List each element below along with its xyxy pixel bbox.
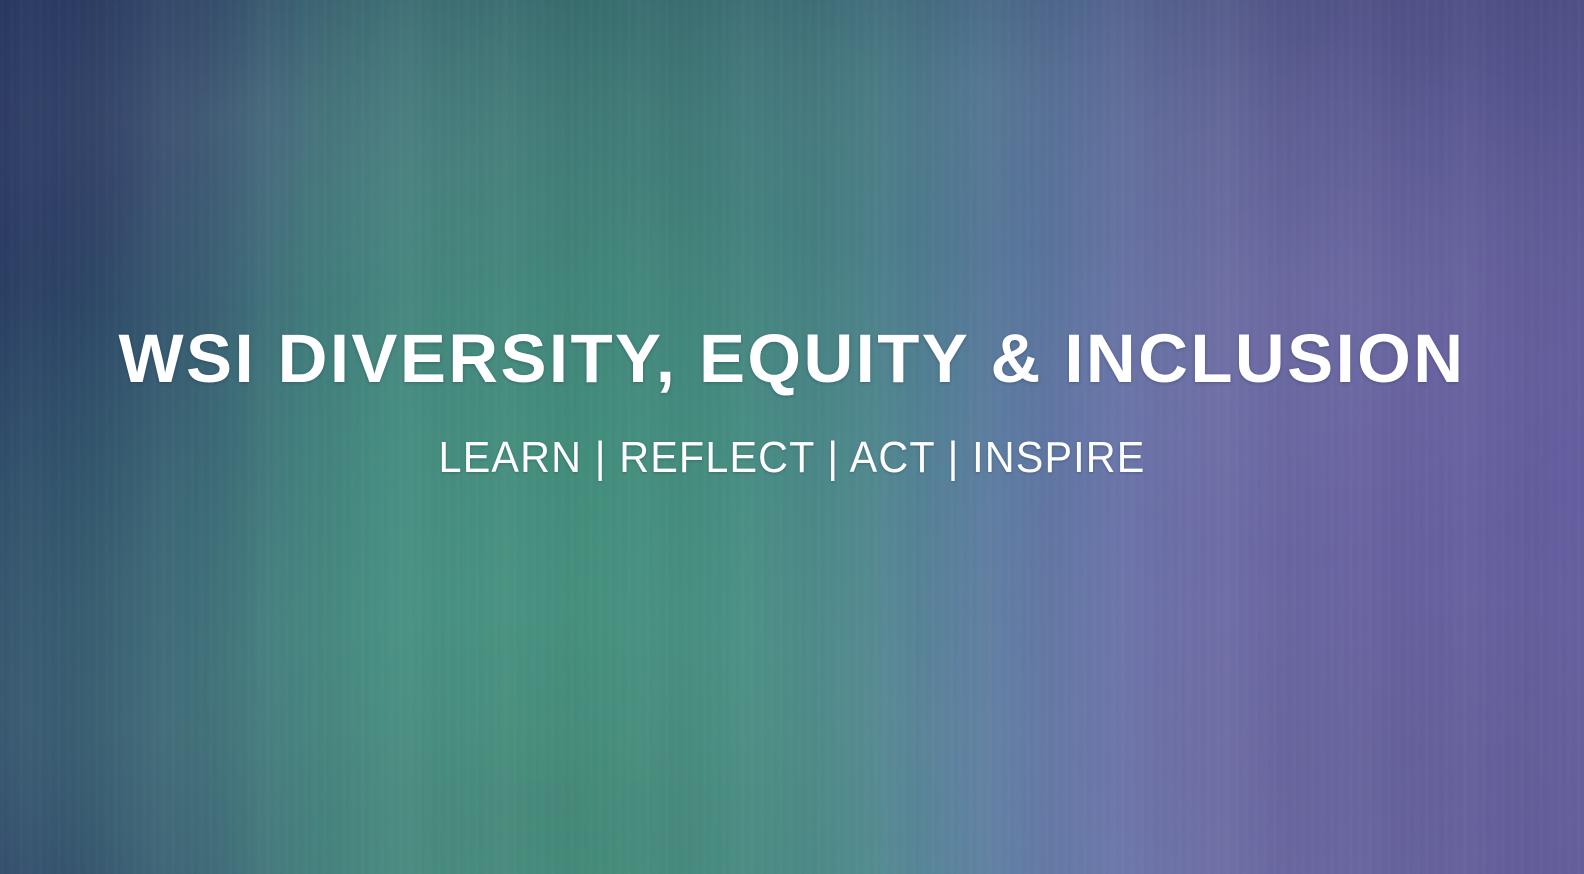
banner-subheadline: LEARN | REFLECT | ACT | INSPIRE (439, 436, 1146, 480)
banner-headline: WSI DIVERSITY, EQUITY & INCLUSION (119, 324, 1466, 393)
banner-content: WSI DIVERSITY, EQUITY & INCLUSION LEARN … (0, 0, 1584, 874)
dei-banner: WSI DIVERSITY, EQUITY & INCLUSION LEARN … (0, 0, 1584, 874)
